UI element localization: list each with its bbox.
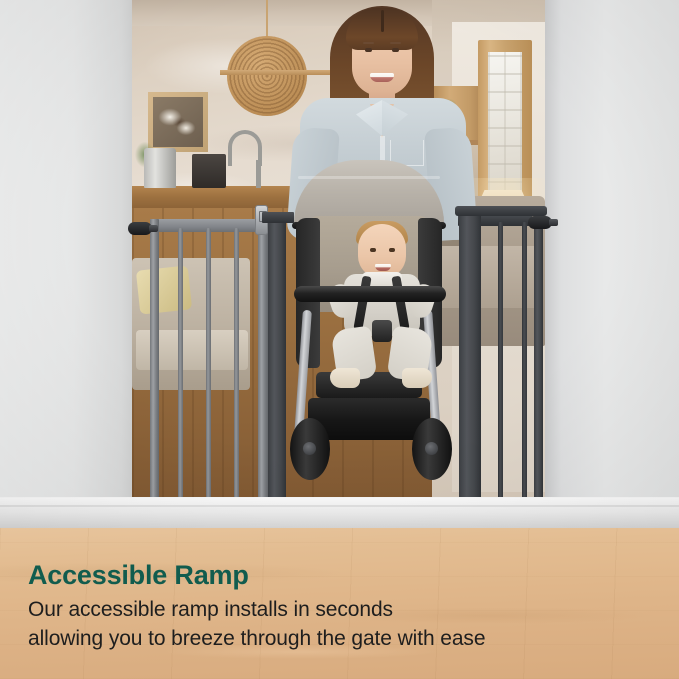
product-feature-image: Accessible Ramp Our accessible ramp inst… [0, 0, 679, 679]
gate-latch-housing [262, 212, 294, 223]
pressure-knob-right [528, 216, 552, 229]
gate-bar [234, 228, 239, 516]
gate-hinge-post [268, 212, 286, 524]
gate-left-inner-post [258, 219, 268, 524]
gate-left-outer-post [150, 219, 159, 524]
caption-text-block: Accessible Ramp Our accessible ramp inst… [28, 560, 652, 653]
gate-top-bracket [455, 206, 547, 216]
gate-left-top-rail [150, 219, 272, 232]
product-photo [0, 0, 679, 548]
caption-line-1: Our accessible ramp installs in seconds [28, 596, 652, 624]
gate-right-outer-post [459, 213, 481, 524]
gate-right-inner-post [534, 213, 543, 524]
gate-bar [206, 228, 211, 516]
gate-bar [498, 222, 503, 514]
gate-bar [522, 222, 527, 514]
baseboard-molding-line [0, 505, 679, 507]
safety-gate [0, 0, 679, 548]
gate-bar [178, 228, 183, 516]
caption-title: Accessible Ramp [28, 560, 652, 590]
pressure-knob-left [128, 222, 152, 235]
caption-line-2: allowing you to breeze through the gate … [28, 625, 652, 653]
baseboard [0, 497, 679, 530]
